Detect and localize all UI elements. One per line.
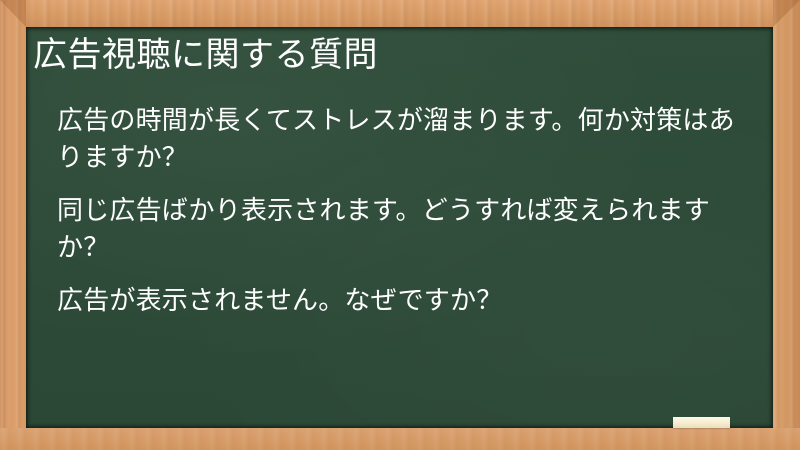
chalkboard-surface: 広告視聴に関する質問 広告の時間が長くてストレスが溜まります。何か対策はあります…	[26, 27, 773, 428]
frame-left-rail	[0, 0, 26, 450]
chalk-stick-icon	[673, 417, 730, 428]
page-title: 広告視聴に関する質問	[33, 33, 753, 77]
frame-corner-top-right	[773, 0, 800, 27]
list-item: 広告の時間が長くてストレスが溜まります。何か対策はありますか？	[57, 103, 757, 177]
list-item: 広告が表示されません。なぜですか？	[57, 283, 757, 320]
chalkboard-slide: 広告視聴に関する質問 広告の時間が長くてストレスが溜まります。何か対策はあります…	[0, 0, 800, 450]
frame-bottom-ledge	[0, 428, 800, 450]
frame-corner-top-left	[0, 0, 26, 27]
question-list: 広告の時間が長くてストレスが溜まります。何か対策はありますか？ 同じ広告ばかり表…	[57, 103, 757, 320]
list-item: 同じ広告ばかり表示されます。どうすれば変えられますか？	[57, 193, 757, 267]
frame-top-rail	[0, 0, 800, 27]
frame-right-rail	[773, 0, 800, 450]
